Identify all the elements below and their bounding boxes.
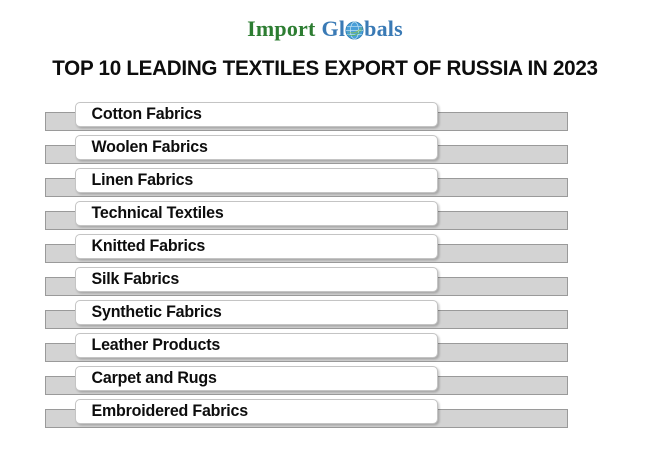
bar-label-box: Carpet and Rugs [75, 366, 438, 391]
bar-label-text: Linen Fabrics [76, 171, 193, 190]
bar-label-text: Cotton Fabrics [76, 105, 202, 124]
bar-label-box: Silk Fabrics [75, 267, 438, 292]
bar-row: Knitted Fabrics [0, 232, 650, 265]
bar-label-box: Technical Textiles [75, 201, 438, 226]
bar-label-box: Leather Products [75, 333, 438, 358]
bar-row: Embroidered Fabrics [0, 397, 650, 430]
bar-label-box: Linen Fabrics [75, 168, 438, 193]
bar-label-text: Embroidered Fabrics [76, 402, 248, 421]
bar-row: Technical Textiles [0, 199, 650, 232]
bar-label-text: Woolen Fabrics [76, 138, 208, 157]
logo-text-bals: bals [364, 18, 403, 40]
bar-label-text: Silk Fabrics [76, 270, 179, 289]
bar-row: Cotton Fabrics [0, 100, 650, 133]
bar-row: Synthetic Fabrics [0, 298, 650, 331]
bar-label-box: Embroidered Fabrics [75, 399, 438, 424]
bar-row: Linen Fabrics [0, 166, 650, 199]
bar-row: Silk Fabrics [0, 265, 650, 298]
bar-label-text: Technical Textiles [76, 204, 224, 223]
bar-label-box: Knitted Fabrics [75, 234, 438, 259]
brand-logo: ImportGl bals [0, 18, 650, 50]
bar-label-text: Carpet and Rugs [76, 369, 217, 388]
globe-icon [345, 21, 364, 40]
bar-row: Carpet and Rugs [0, 364, 650, 397]
bar-label-text: Knitted Fabrics [76, 237, 205, 256]
bar-label-box: Woolen Fabrics [75, 135, 438, 160]
logo-wordmark: ImportGl bals [247, 18, 403, 40]
bar-label-box: Cotton Fabrics [75, 102, 438, 127]
bar-row: Leather Products [0, 331, 650, 364]
page-title: TOP 10 LEADING TEXTILES EXPORT OF RUSSIA… [13, 56, 637, 81]
bar-row: Woolen Fabrics [0, 133, 650, 166]
bar-chart: Cotton FabricsWoolen FabricsLinen Fabric… [0, 100, 650, 430]
bar-label-box: Synthetic Fabrics [75, 300, 438, 325]
bar-label-text: Synthetic Fabrics [76, 303, 222, 322]
logo-text-import: Import [247, 18, 315, 40]
logo-text-gl: Gl [322, 18, 346, 40]
bar-label-text: Leather Products [76, 336, 220, 355]
